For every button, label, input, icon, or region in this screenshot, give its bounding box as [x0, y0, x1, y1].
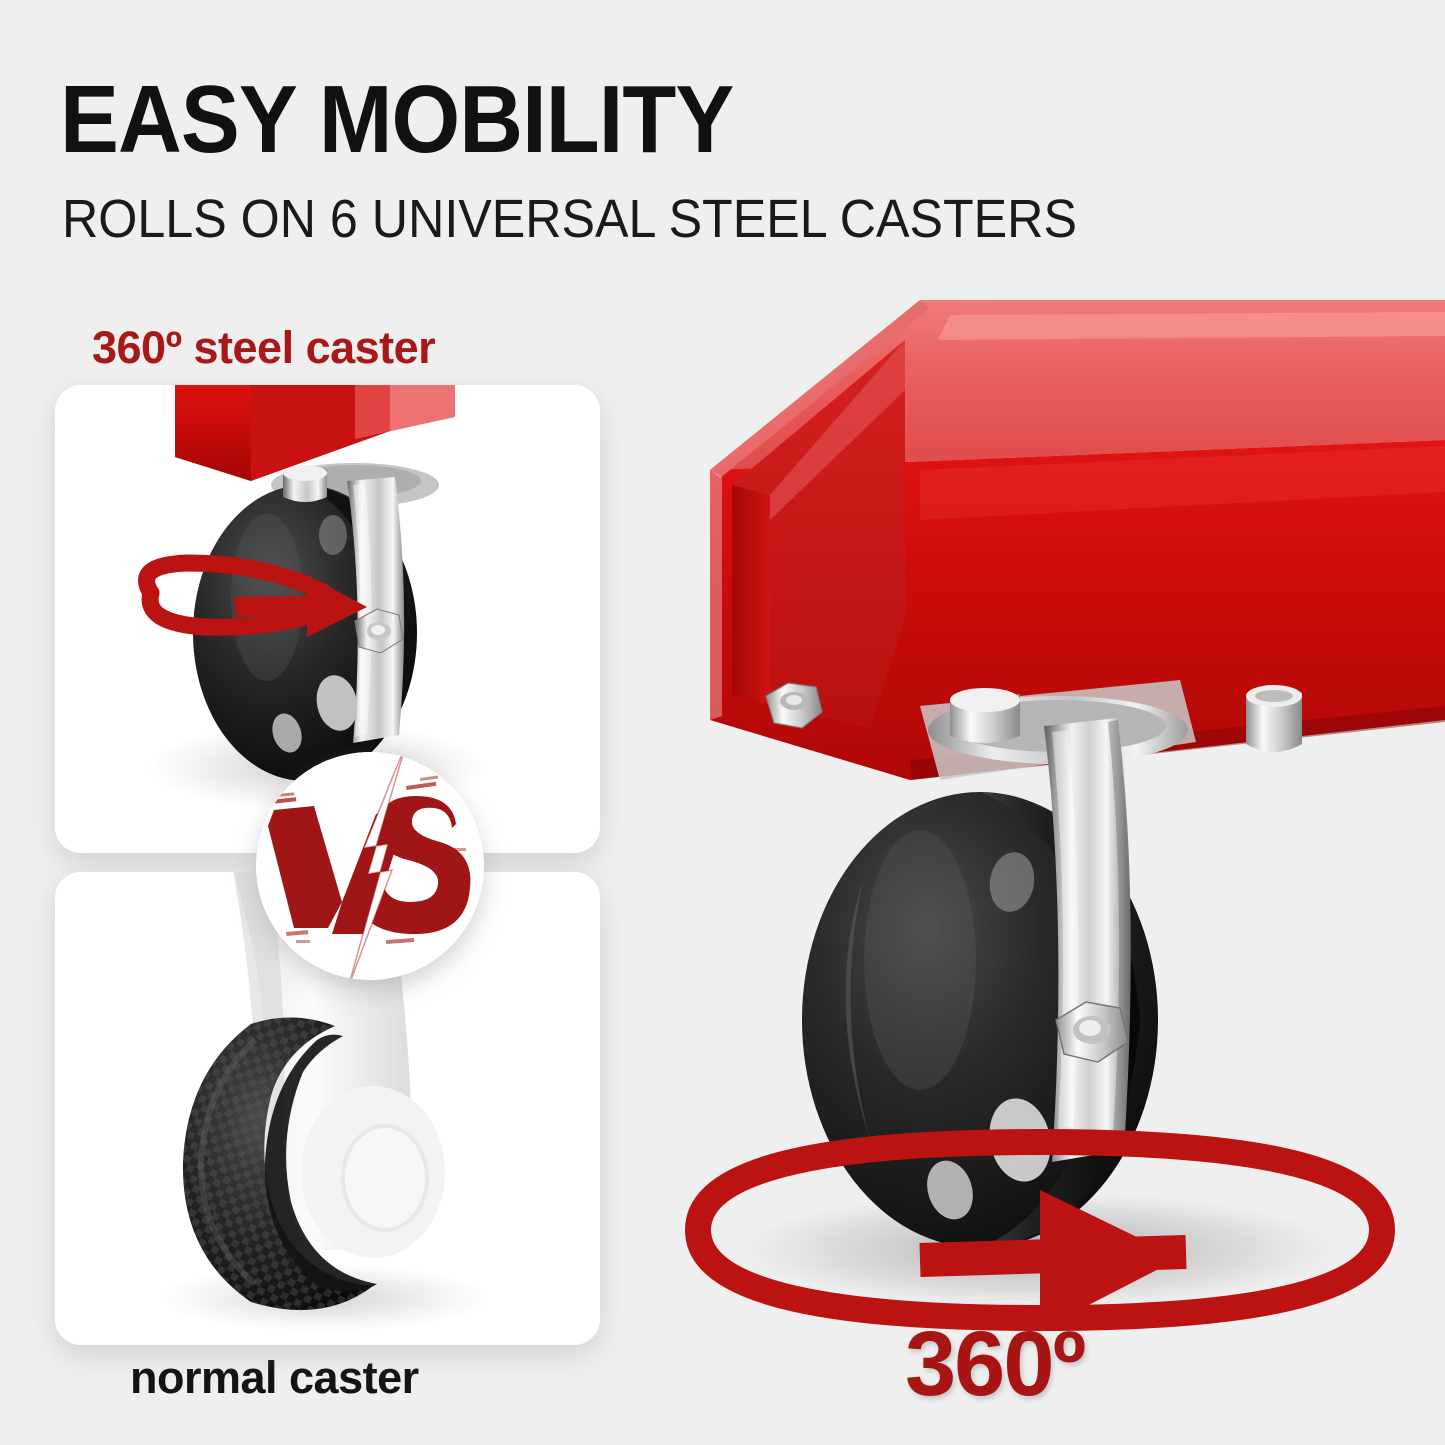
- vs-badge-svg: [256, 752, 484, 980]
- product-infographic: EASY MOBILITY ROLLS ON 6 UNIVERSAL STEEL…: [0, 0, 1445, 1445]
- normal-caster-label: normal caster: [130, 1352, 419, 1404]
- chrome-stub: [950, 688, 1020, 743]
- steel-caster-label: 360º steel caster: [92, 322, 435, 374]
- vs-badge: [256, 752, 484, 980]
- chrome-post-icon: [1246, 685, 1302, 752]
- main-product-illustration: [620, 140, 1445, 1380]
- main-product-svg: [620, 140, 1445, 1380]
